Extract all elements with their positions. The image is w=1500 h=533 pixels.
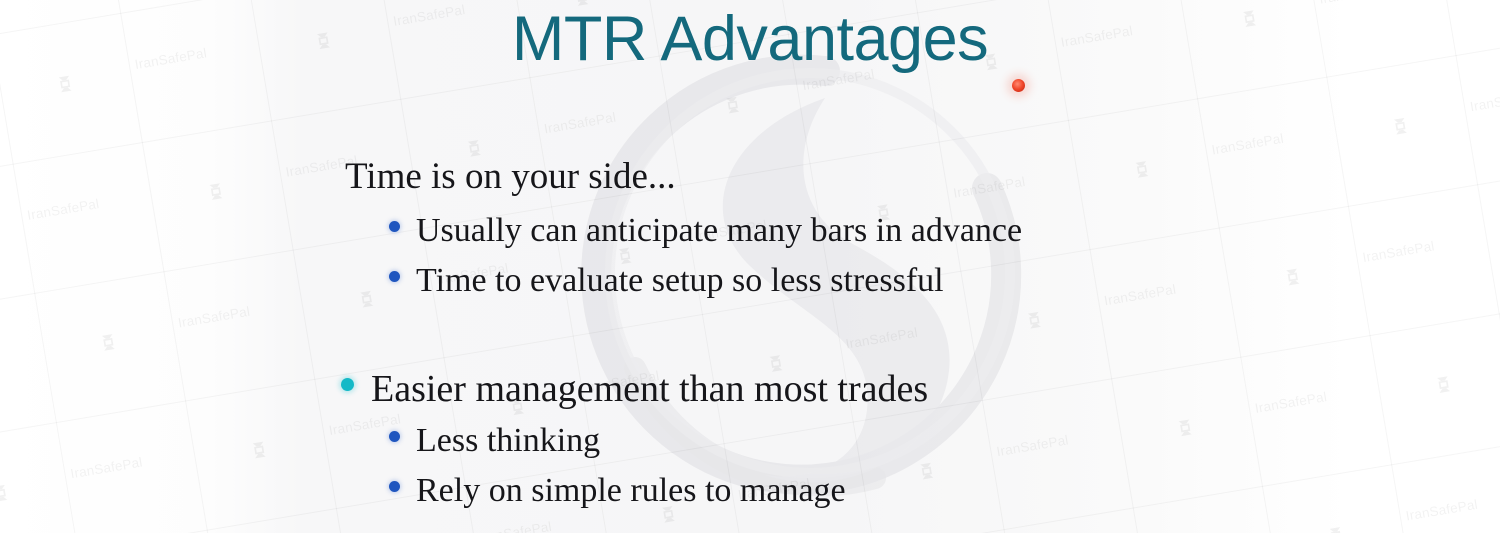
- bullet-dot-icon: [389, 271, 400, 282]
- bullet-dot-icon: [389, 431, 400, 442]
- presentation-slide: IranSafePalIranSafePalIranSafePalIranSaf…: [0, 0, 1500, 533]
- list-item-label: Easier management than most trades: [371, 370, 928, 409]
- list-item: Less thinking: [389, 424, 600, 459]
- list-item: Rely on simple rules to manage: [389, 474, 846, 509]
- list-item: Easier management than most trades: [341, 370, 928, 409]
- list-item-label: Rely on simple rules to manage: [416, 474, 846, 509]
- list-item-label: Usually can anticipate many bars in adva…: [416, 214, 1022, 249]
- list-item: Time to evaluate setup so less stressful: [389, 264, 944, 299]
- list-item-label: Less thinking: [416, 424, 600, 459]
- list-item: Usually can anticipate many bars in adva…: [389, 214, 1022, 249]
- bullet-dot-icon: [389, 481, 400, 492]
- slide-title: MTR Advantages: [0, 8, 1500, 71]
- bullet-dot-icon: [389, 221, 400, 232]
- laser-pointer-dot: [1012, 79, 1025, 92]
- list-item-label: Time to evaluate setup so less stressful: [416, 264, 944, 299]
- lead-line: Time is on your side...: [345, 158, 676, 196]
- bullet-dot-icon: [341, 378, 354, 391]
- slide-content: MTR Advantages Time is on your side... U…: [0, 0, 1500, 533]
